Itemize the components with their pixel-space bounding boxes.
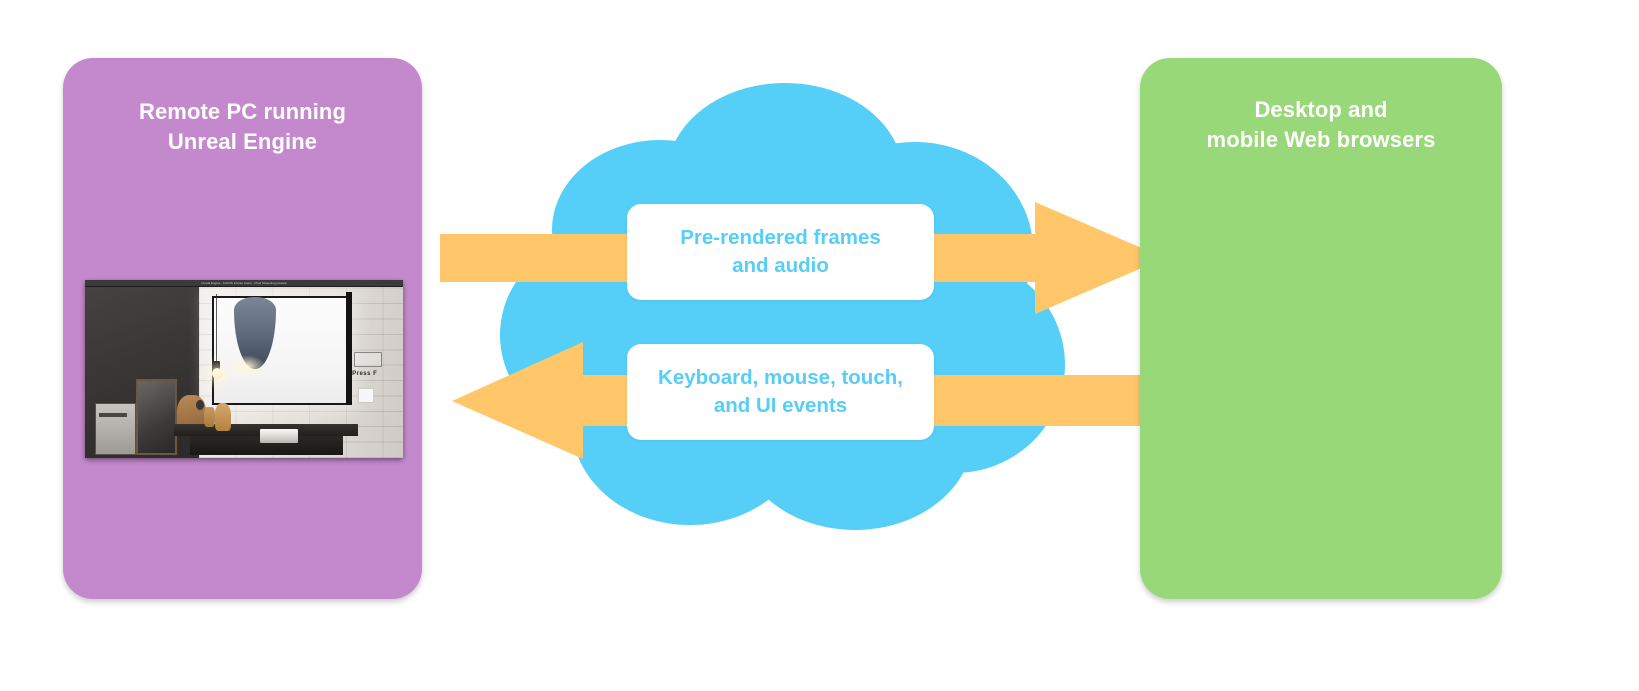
scene-press-f-prompt: Press F bbox=[352, 371, 377, 377]
ue-window-title: Unreal Engine - ArchVis interior scene -… bbox=[85, 280, 403, 287]
right-panel-title: Desktop and mobile Web browsers bbox=[1140, 95, 1502, 155]
ue-rendered-scene: Press F bbox=[85, 287, 403, 458]
scene-stacked-frames bbox=[95, 403, 136, 454]
scene-vase bbox=[196, 400, 204, 410]
scene-canvas-artwork bbox=[212, 296, 349, 405]
left-panel-title: Remote PC running Unreal Engine bbox=[63, 97, 422, 157]
scene-pendant-cord bbox=[216, 294, 217, 362]
unreal-engine-screenshot: Unreal Engine - ArchVis interior scene -… bbox=[85, 280, 403, 458]
diagram-canvas: Remote PC running Unreal Engine Unreal E… bbox=[0, 0, 1639, 691]
scene-frame-edge bbox=[346, 292, 352, 405]
scene-mirror bbox=[136, 379, 177, 454]
label-keyboard-mouse-touch-ui-events: Keyboard, mouse, touch, and UI events bbox=[627, 344, 934, 440]
scene-books bbox=[260, 429, 298, 443]
scene-light-glow bbox=[228, 355, 266, 377]
right-panel-web-browsers: Desktop and mobile Web browsers bbox=[1140, 58, 1502, 599]
ue-window-titlebar: Unreal Engine - ArchVis interior scene -… bbox=[85, 280, 403, 287]
scene-figurine bbox=[215, 403, 231, 430]
scene-light-switch bbox=[358, 388, 374, 403]
scene-key-icon bbox=[354, 352, 383, 367]
left-panel-remote-pc: Remote PC running Unreal Engine Unreal E… bbox=[63, 58, 422, 599]
scene-figurine-small bbox=[204, 407, 215, 428]
label-pre-rendered-frames-and-audio: Pre-rendered frames and audio bbox=[627, 204, 934, 300]
